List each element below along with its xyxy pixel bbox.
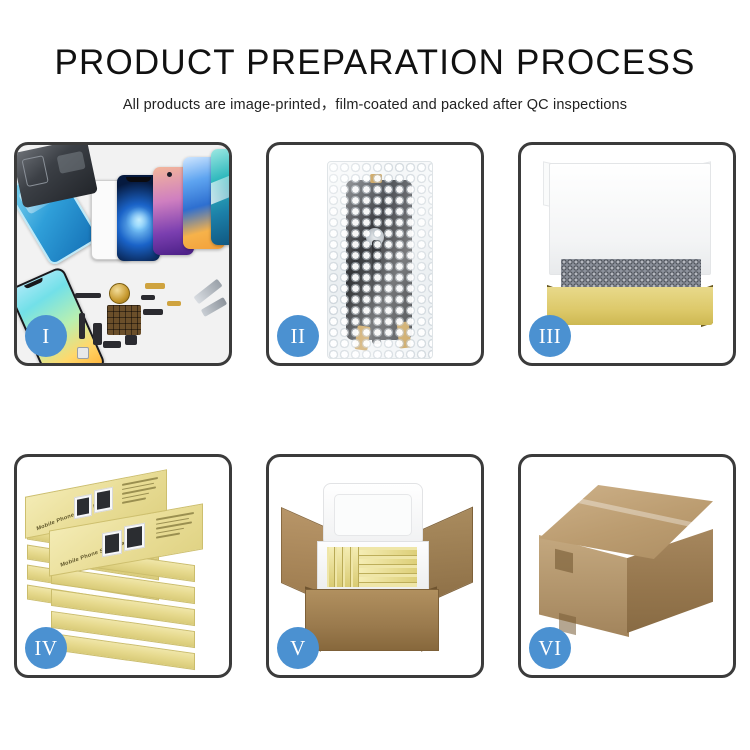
process-step-2: II bbox=[266, 142, 484, 366]
bubble-wrap-bag bbox=[327, 161, 433, 359]
flex-cable-part-1 bbox=[75, 293, 101, 298]
styrofoam-lid bbox=[323, 483, 423, 547]
carton-tape-patch-upper bbox=[555, 549, 573, 573]
product-preparation-process-infographic: PRODUCT PREPARATION PROCESS All products… bbox=[0, 0, 750, 750]
step-badge-4: IV bbox=[25, 627, 67, 669]
speaker-part bbox=[125, 335, 137, 345]
step-badge-1: I bbox=[25, 315, 67, 357]
plastic-sheen bbox=[328, 162, 432, 358]
tweezers-tool bbox=[201, 297, 228, 317]
process-step-6: VI bbox=[518, 454, 736, 678]
header: PRODUCT PREPARATION PROCESS All products… bbox=[0, 0, 750, 114]
process-step-grid: I II bbox=[14, 142, 736, 678]
chip-array-part bbox=[107, 305, 141, 335]
box-spec-lines-rear bbox=[122, 477, 158, 506]
gold-connector-2 bbox=[167, 301, 181, 306]
process-step-1: I bbox=[14, 142, 232, 366]
flex-cable-part-2 bbox=[79, 313, 85, 339]
step-badge-5: V bbox=[277, 627, 319, 669]
step-badge-2: II bbox=[277, 315, 319, 357]
gold-connector-1 bbox=[145, 283, 165, 289]
step-badge-6: VI bbox=[529, 627, 571, 669]
flex-cable-part-3 bbox=[93, 323, 102, 345]
page-subtitle: All products are image-printed，film-coat… bbox=[0, 82, 750, 114]
vibration-motor-part bbox=[109, 283, 130, 304]
flex-cable-part-4 bbox=[103, 341, 121, 348]
process-step-5: V bbox=[266, 454, 484, 678]
flex-cable-part-5 bbox=[143, 309, 163, 315]
process-step-4: Mobile Phone Spare Parts Mobile Phone Sp… bbox=[14, 454, 232, 678]
page-title: PRODUCT PREPARATION PROCESS bbox=[0, 0, 750, 82]
carton-front-face bbox=[305, 589, 439, 651]
flex-cable-part-6 bbox=[141, 295, 155, 300]
stacked-retail-boxes-inside bbox=[327, 547, 417, 587]
box-spec-lines-front bbox=[156, 512, 194, 541]
box-tray-yellow bbox=[547, 287, 713, 325]
camera-module-part bbox=[77, 347, 89, 359]
phone-screen-teal bbox=[211, 149, 229, 245]
phone-back-housing bbox=[17, 145, 98, 208]
step-badge-3: III bbox=[529, 315, 571, 357]
process-step-3: III bbox=[518, 142, 736, 366]
